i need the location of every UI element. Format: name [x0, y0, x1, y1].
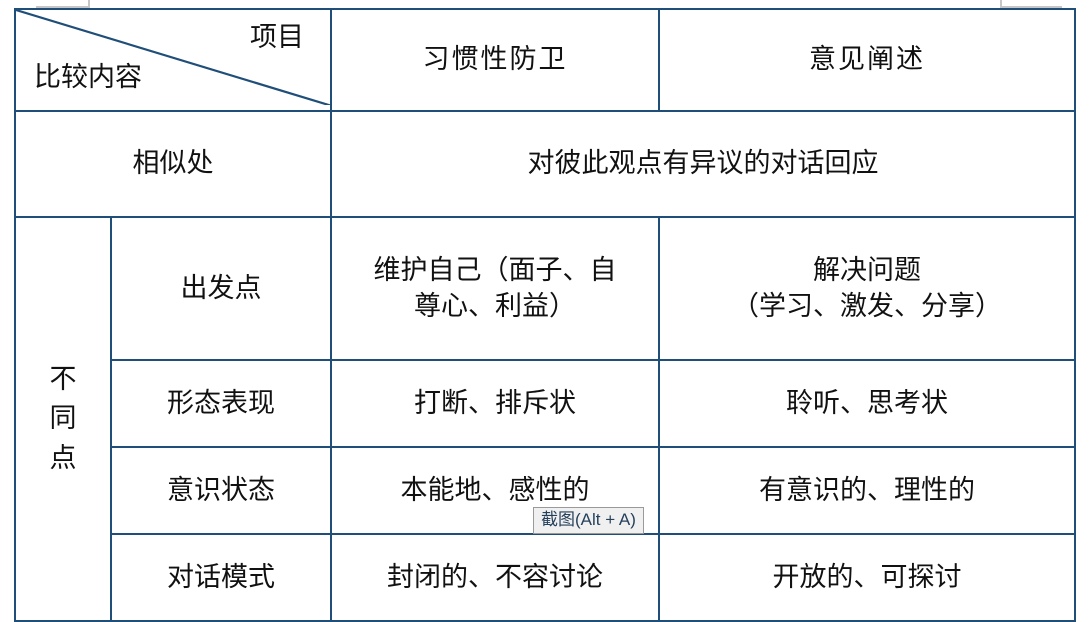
similarity-value: 对彼此观点有异议的对话回应: [331, 111, 1075, 217]
corner-header-cell: 项目 比较内容: [15, 9, 331, 111]
similarity-label: 相似处: [15, 111, 331, 217]
expressive-value-1: 解决问题 （学习、激发、分享）: [659, 217, 1075, 360]
aspect-label-4: 对话模式: [111, 534, 331, 621]
aspect-label-3: 意识状态: [111, 447, 331, 534]
table-header-row: 项目 比较内容 习惯性防卫 意见阐述: [15, 9, 1075, 111]
header-defensive: 习惯性防卫: [331, 9, 659, 111]
ruler-tick: [1000, 0, 1002, 8]
expressive-value-4: 开放的、可探讨: [659, 534, 1075, 621]
corner-row-axis-label: 比较内容: [34, 60, 142, 96]
aspect-label-2: 形态表现: [111, 360, 331, 447]
expressive-value-1-line-1: 解决问题: [666, 253, 1068, 289]
difference-label-char-2: 同: [50, 399, 77, 438]
top-edge-ruler-fragment: [0, 0, 1092, 8]
similarity-row: 相似处 对彼此观点有异议的对话回应: [15, 111, 1075, 217]
difference-label-cell: 不 同 点: [15, 217, 111, 621]
defensive-value-1-line-1: 维护自己（面子、自: [338, 253, 652, 289]
difference-row-2: 形态表现 打断、排斥状 聆听、思考状: [15, 360, 1075, 447]
difference-row-4: 对话模式 封闭的、不容讨论 开放的、可探讨: [15, 534, 1075, 621]
defensive-value-2: 打断、排斥状: [331, 360, 659, 447]
ruler-tick: [88, 0, 90, 8]
defensive-value-1: 维护自己（面子、自 尊心、利益）: [331, 217, 659, 360]
expressive-value-2: 聆听、思考状: [659, 360, 1075, 447]
corner-column-axis-label: 项目: [250, 20, 304, 56]
expressive-value-3: 有意识的、理性的: [659, 447, 1075, 534]
difference-label-char-3: 点: [50, 439, 77, 478]
defensive-value-1-line-2: 尊心、利益）: [338, 289, 652, 325]
screenshot-shortcut-tooltip: 截图(Alt + A): [533, 507, 644, 534]
expressive-value-1-line-2: （学习、激发、分享）: [666, 289, 1068, 325]
defensive-value-4: 封闭的、不容讨论: [331, 534, 659, 621]
difference-label-char-1: 不: [50, 360, 77, 399]
aspect-label-1: 出发点: [111, 217, 331, 360]
difference-row-1: 不 同 点 出发点 维护自己（面子、自 尊心、利益） 解决问题 （学习、激发、分…: [15, 217, 1075, 360]
header-expressive: 意见阐述: [659, 9, 1075, 111]
